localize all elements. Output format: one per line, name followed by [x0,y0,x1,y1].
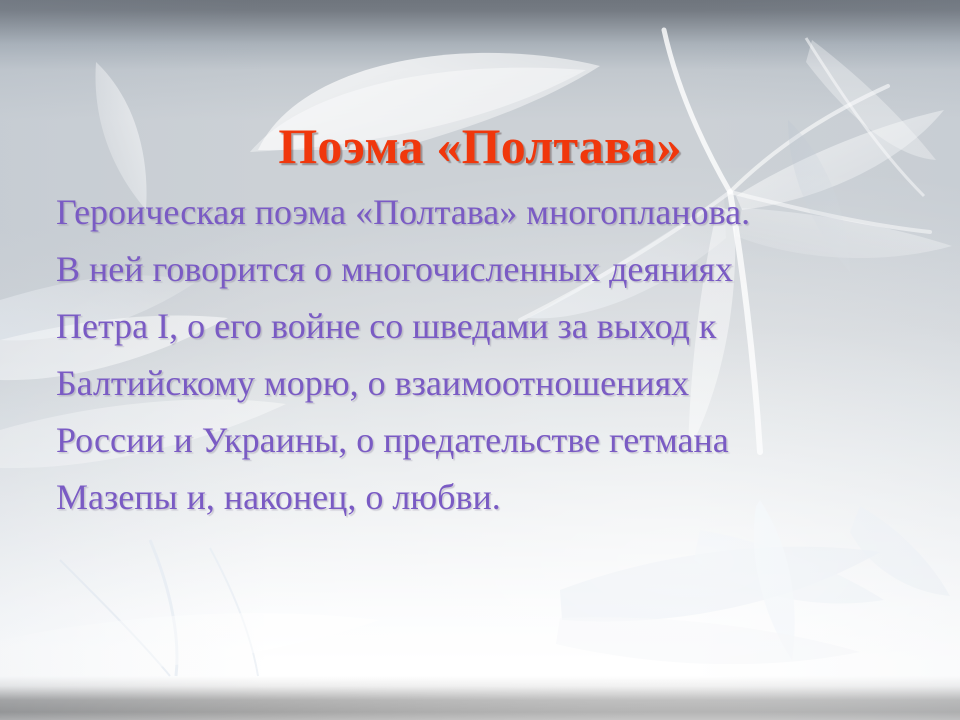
slide-content: Поэма «Полтава» Героическая поэма «Полта… [0,0,960,720]
body-line: Балтийскому морю, о взаимоотношениях [56,355,926,412]
body-line: Мазепы и, наконец, о любви. [56,469,926,526]
presentation-slide: Поэма «Полтава» Героическая поэма «Полта… [0,0,960,720]
slide-body-text: Героическая поэма «Полтава» многопланова… [56,184,926,526]
body-line: Героическая поэма «Полтава» многопланова… [56,184,926,241]
body-line: В ней говорится о многочисленных деяниях [56,241,926,298]
body-line: России и Украины, о предательстве гетман… [56,412,926,469]
slide-title: Поэма «Полтава» [0,120,960,173]
body-line: Петра I, о его войне со шведами за выход… [56,298,926,355]
